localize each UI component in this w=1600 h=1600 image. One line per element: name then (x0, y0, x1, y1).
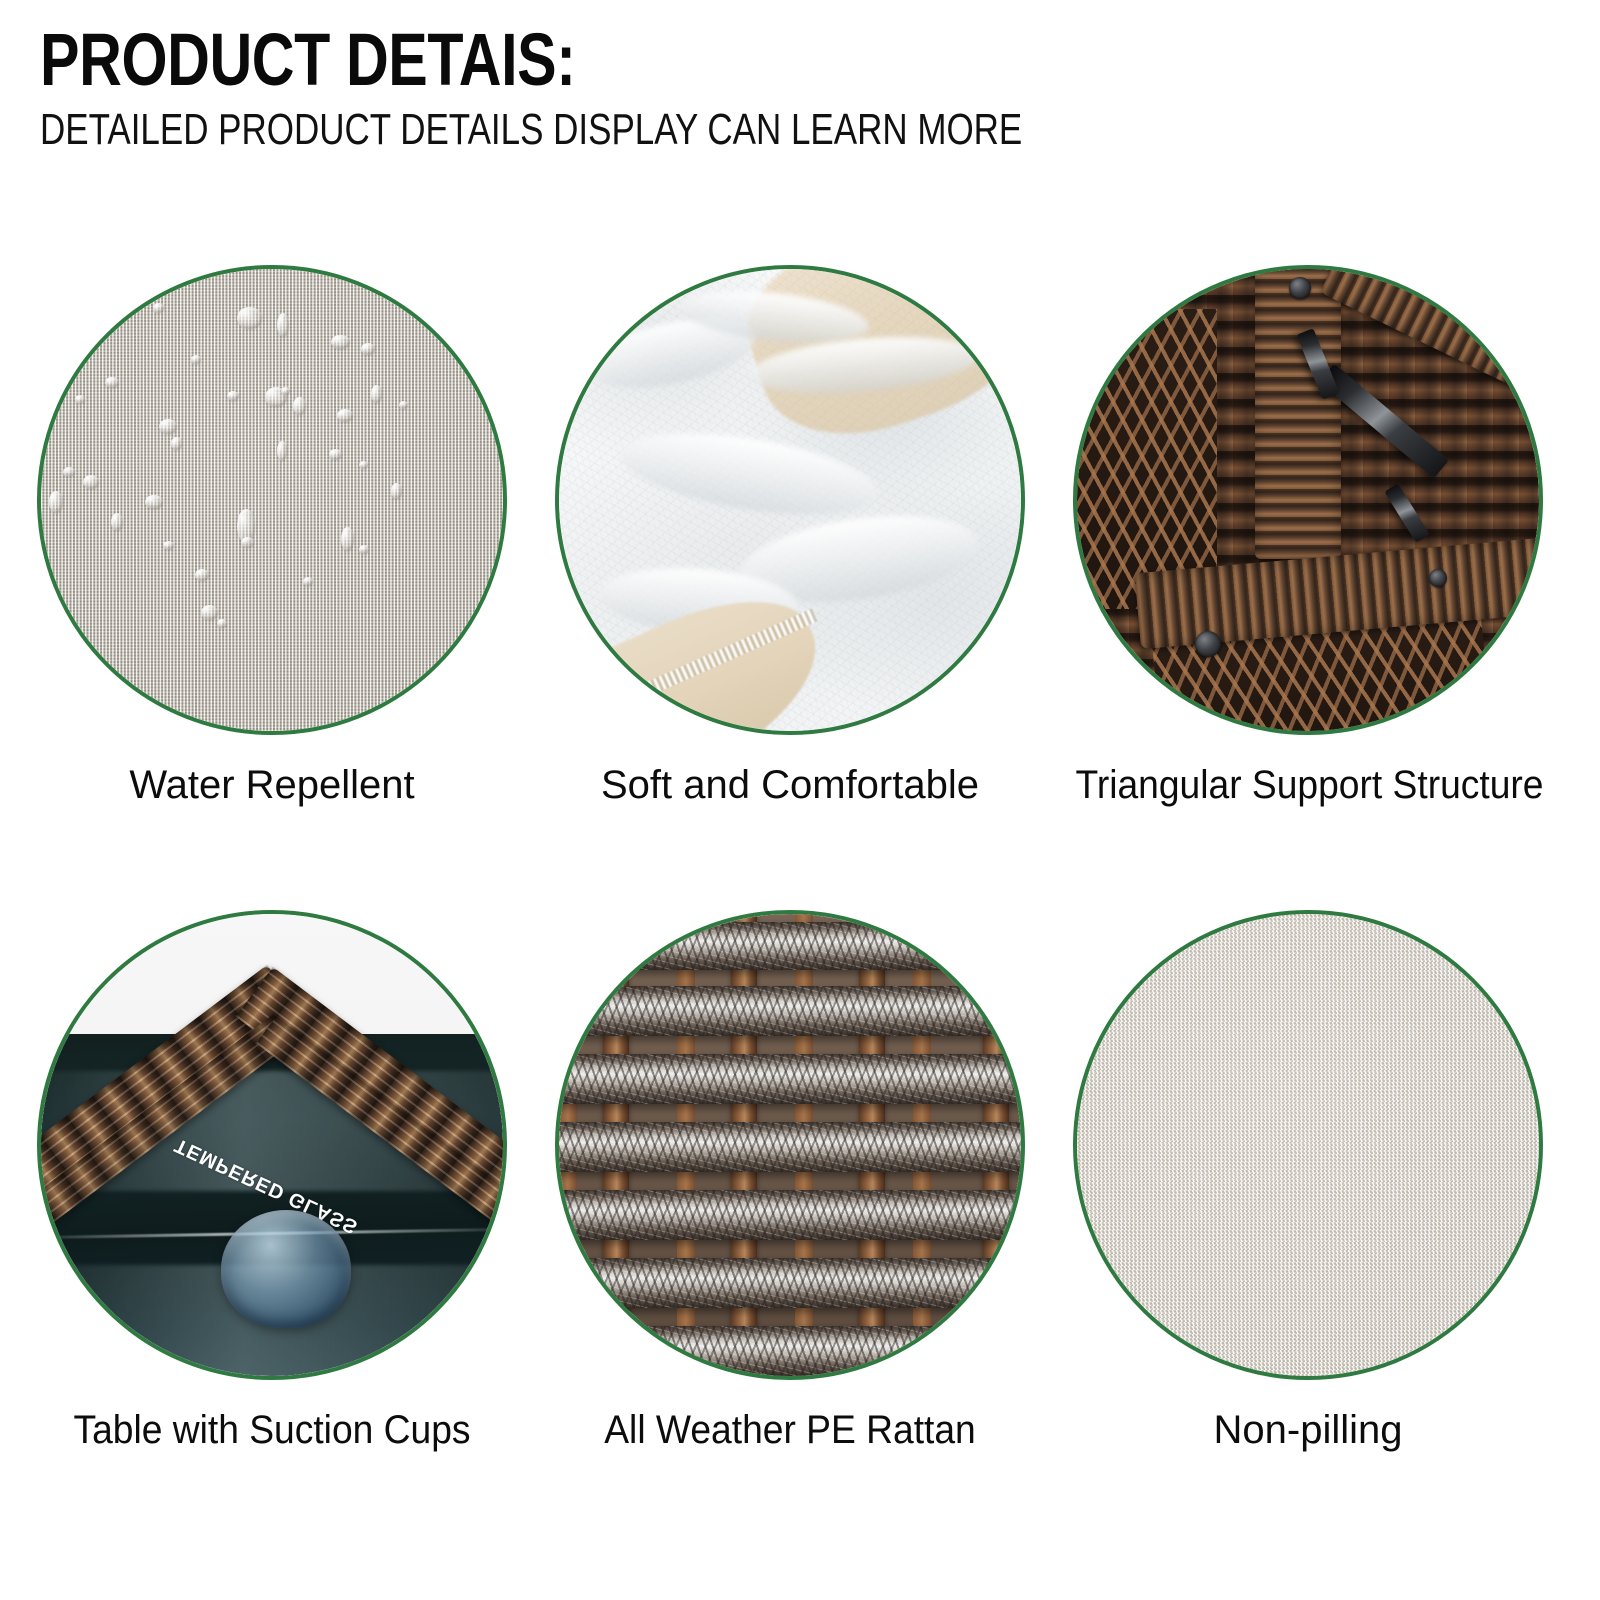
header: PRODUCT DETAIS: DETAILED PRODUCT DETAILS… (40, 24, 1560, 153)
feature-card-table-with-suction-cups[interactable]: TEMPERED GLASS Table with Suction Cups (22, 900, 522, 1452)
feature-row-2: TEMPERED GLASS Table with Suction Cups (0, 900, 1600, 1545)
pe-rattan-macro-texture (559, 914, 1021, 1376)
feature-row-1: Water Repellent (0, 255, 1600, 900)
rattan-weave-strand (559, 1122, 1021, 1172)
feature-card-non-pilling[interactable]: Non-pilling (1058, 900, 1558, 1452)
rattan-weave-strand (559, 986, 1021, 1036)
rattan-weave-strand (559, 1326, 1021, 1376)
feature-caption-table-with-suction-cups: Table with Suction Cups (40, 1408, 505, 1452)
suction-cup (221, 1210, 351, 1328)
screw-top (1289, 277, 1311, 299)
non-pilling-fabric-texture (1077, 914, 1539, 1376)
feature-image-all-weather-pe-rattan (555, 910, 1025, 1380)
feature-image-table-with-suction-cups: TEMPERED GLASS (37, 910, 507, 1380)
feature-caption-all-weather-pe-rattan: All Weather PE Rattan (558, 1408, 1023, 1452)
rattan-weave-strand (559, 1258, 1021, 1308)
product-details-page: PRODUCT DETAIS: DETAILED PRODUCT DETAILS… (0, 0, 1600, 1600)
rattan-corner-texture (1077, 269, 1539, 731)
screw-bottom-left (1195, 631, 1221, 657)
rattan-weave-strand (559, 922, 1021, 970)
feature-image-triangular-support-structure (1073, 265, 1543, 735)
feature-caption-soft-and-comfortable: Soft and Comfortable (540, 763, 1040, 807)
page-title: PRODUCT DETAIS: (40, 24, 1256, 95)
feature-caption-non-pilling: Non-pilling (1058, 1408, 1558, 1452)
feature-grid: Water Repellent (0, 255, 1600, 1545)
page-subtitle: DETAILED PRODUCT DETAILS DISPLAY CAN LEA… (40, 107, 1248, 153)
rattan-weave-strand (559, 1190, 1021, 1240)
feature-image-non-pilling (1073, 910, 1543, 1380)
water-droplets (41, 269, 503, 731)
rattan-lattice-left (1077, 309, 1217, 609)
feature-card-water-repellent[interactable]: Water Repellent (22, 255, 522, 807)
rattan-post-vertical (1255, 269, 1341, 559)
feature-caption-water-repellent: Water Repellent (22, 763, 522, 807)
feature-card-triangular-support-structure[interactable]: Triangular Support Structure (1058, 255, 1558, 807)
screw-mid (1429, 569, 1447, 587)
fiberfill-texture (559, 269, 1021, 731)
rattan-weave-strand (559, 1054, 1021, 1104)
feature-caption-triangular-support-structure: Triangular Support Structure (1076, 763, 1541, 807)
feature-image-soft-and-comfortable (555, 265, 1025, 735)
feature-image-water-repellent (37, 265, 507, 735)
feature-card-soft-and-comfortable[interactable]: Soft and Comfortable (540, 255, 1040, 807)
feature-card-all-weather-pe-rattan[interactable]: All Weather PE Rattan (540, 900, 1040, 1452)
glass-table-corner: TEMPERED GLASS (41, 914, 503, 1376)
fabric-weave-texture (41, 269, 503, 731)
